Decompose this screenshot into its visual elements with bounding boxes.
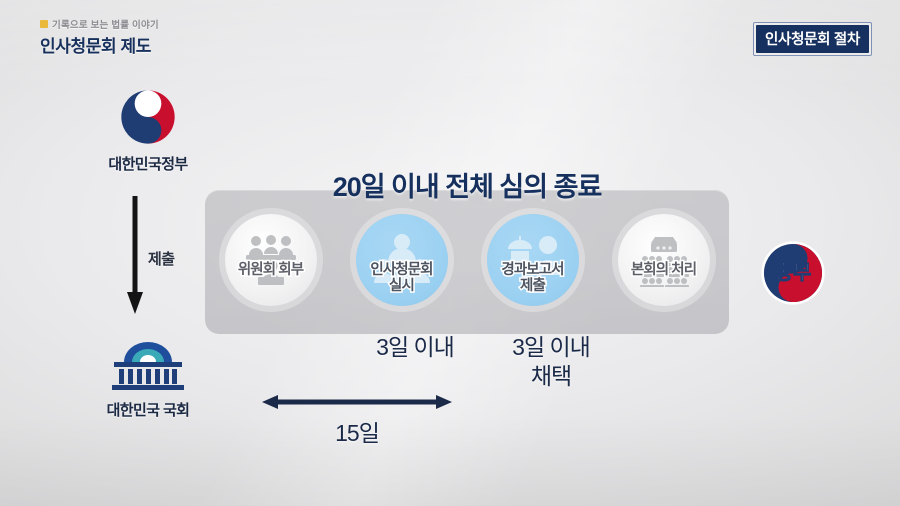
step-label: 위원회 회부 (207, 262, 335, 278)
caption-adopt: 채택 (487, 362, 615, 391)
range-indicator: 15일 (262, 392, 452, 448)
assembly-building-icon (102, 336, 194, 392)
submit-arrow-icon (126, 196, 144, 314)
caption-text: 3일 이내 (355, 333, 475, 362)
step-label: 인사청문회 실시 (338, 262, 466, 294)
submit-label: 제출 (148, 248, 175, 269)
section-tag: 인사청문회 절차 (753, 22, 872, 56)
government-emblem-icon (119, 88, 177, 146)
send-badge[interactable]: 송부 (760, 240, 826, 306)
committee-table-icon (240, 233, 302, 287)
page-title: 인사청문회 제도 (40, 32, 159, 57)
process-steps: 위원회 회부 인사청문회 실시 (205, 214, 729, 326)
government-label: 대한민국정부 (88, 153, 208, 174)
step-plenary[interactable]: 본회의 처리 (608, 214, 720, 306)
header-eyebrow: 기록으로 보는 법률 이야기 (40, 17, 159, 30)
plenary-session-icon (633, 233, 695, 287)
caption-three-days-1: 3일 이내 (355, 333, 475, 362)
caption-three-days-2: 3일 이내 채택 (487, 333, 615, 391)
bookmark-icon (40, 20, 48, 28)
header-block: 기록으로 보는 법률 이야기 인사청문회 제도 (40, 17, 159, 57)
caption-text: 3일 이내 (487, 333, 615, 362)
panel-title: 20일 이내 전체 심의 종료 (205, 165, 729, 204)
range-label: 15일 (262, 414, 452, 448)
step-label: 본회의 처리 (600, 262, 728, 278)
assembly-node: 대한민국 국회 (80, 336, 216, 420)
slide-canvas: 기록으로 보는 법률 이야기 인사청문회 제도 인사청문회 절차 대한민국정부 … (0, 0, 900, 506)
step-report-submit[interactable]: 경과보고서 제출 (477, 214, 589, 306)
step-label: 경과보고서 제출 (469, 262, 597, 294)
step-circle (618, 214, 710, 306)
government-node: 대한민국정부 (88, 88, 208, 174)
assembly-label: 대한민국 국회 (80, 399, 216, 420)
section-tag-label: 인사청문회 절차 (756, 25, 869, 53)
step-circle (225, 214, 317, 306)
double-arrow-icon (262, 392, 452, 412)
step-hearing[interactable]: 인사청문회 실시 (346, 214, 458, 306)
send-badge-label: 송부 (775, 262, 811, 284)
header-eyebrow-text: 기록으로 보는 법률 이야기 (52, 17, 159, 31)
section-tag-frame: 인사청문회 절차 (753, 22, 872, 56)
step-committee-referral[interactable]: 위원회 회부 (215, 214, 327, 306)
